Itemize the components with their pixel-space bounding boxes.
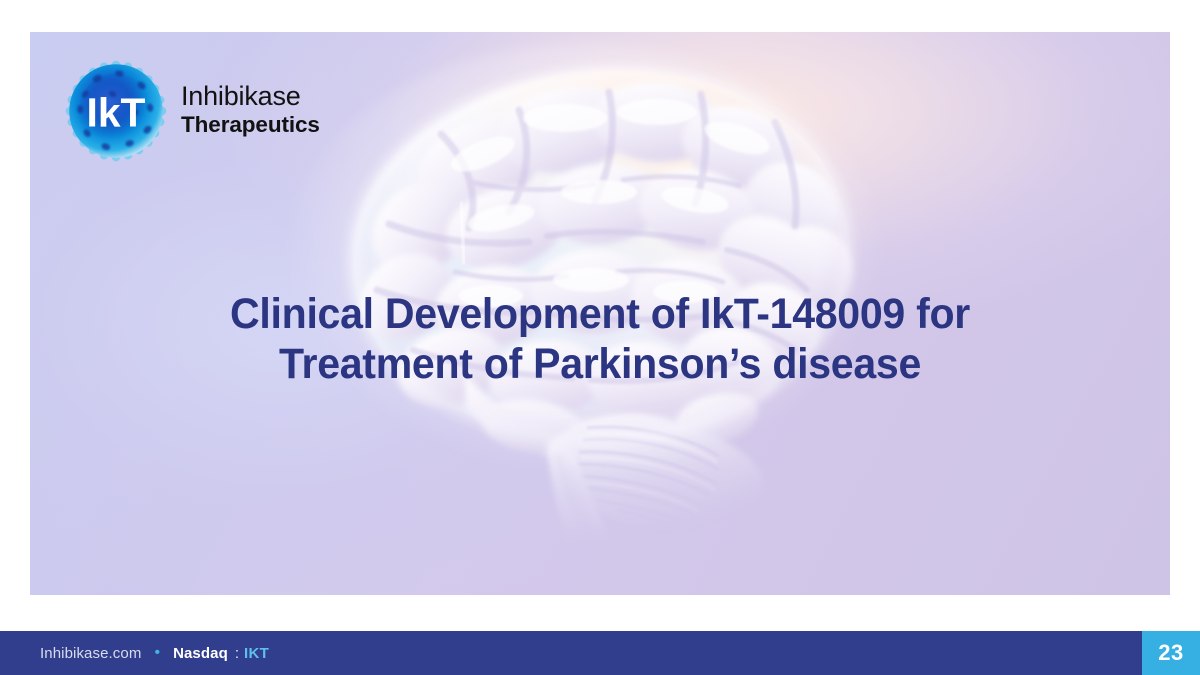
footer-website[interactable]: Inhibikase.com <box>40 645 141 662</box>
ikt-cell-logo-icon: IkT <box>65 60 167 162</box>
company-name: Inhibikase Therapeutics <box>181 83 320 139</box>
ikt-logo-text: IkT <box>87 89 146 135</box>
footer-ticker-symbol: IKT <box>244 645 269 662</box>
slide-title-line-2: Treatment of Parkinson’s disease <box>113 340 1087 390</box>
company-name-line2: Therapeutics <box>181 114 320 137</box>
footer-exchange-label: Nasdaq <box>173 645 228 662</box>
slide-footer: Inhibikase.com • Nasdaq : IKT 23 <box>0 631 1200 675</box>
slide-title: Clinical Development of IkT-148009 for T… <box>30 290 1170 390</box>
footer-content: Inhibikase.com • Nasdaq : IKT <box>40 645 269 662</box>
slide-root: IkT Inhibikase Therapeutics Clinical Dev… <box>0 0 1200 675</box>
brain-glow <box>285 42 885 472</box>
page-number-badge: 23 <box>1142 631 1200 675</box>
company-name-line1: Inhibikase <box>181 83 320 110</box>
slide-content-panel: IkT Inhibikase Therapeutics Clinical Dev… <box>30 32 1170 595</box>
company-logo: IkT Inhibikase Therapeutics <box>65 60 320 162</box>
footer-colon: : <box>235 645 239 662</box>
slide-title-line-1: Clinical Development of IkT-148009 for <box>113 290 1087 340</box>
footer-bullet-separator: • <box>150 645 164 661</box>
